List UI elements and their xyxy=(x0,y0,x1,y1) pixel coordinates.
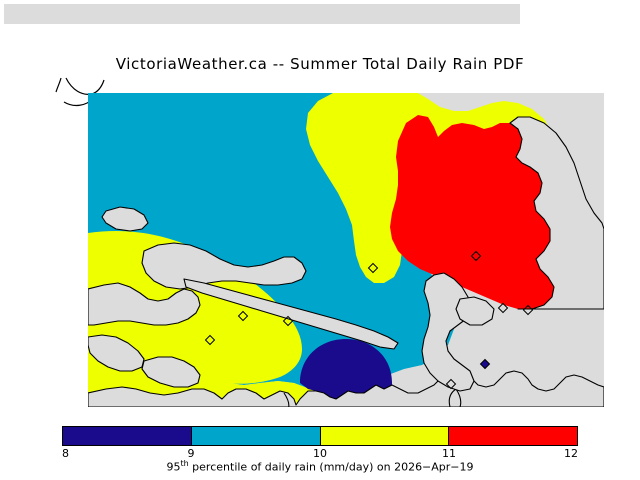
colorbar xyxy=(62,426,578,446)
caption-superscript: th xyxy=(180,459,188,468)
caption-rest: percentile of daily rain (mm/day) on 202… xyxy=(189,461,474,474)
colorbar-segment-11-12[interactable] xyxy=(449,427,577,445)
caption-prefix: 95 xyxy=(166,461,180,474)
colorbar-shadow xyxy=(4,4,520,24)
colorbar-segment-9-10[interactable] xyxy=(192,427,321,445)
map-canvas xyxy=(88,93,604,407)
colorbar-caption: 95th percentile of daily rain (mm/day) o… xyxy=(0,459,640,474)
colorbar-segment-8-9[interactable] xyxy=(63,427,192,445)
weather-map-page: VictoriaWeather.ca -- Summer Total Daily… xyxy=(0,0,640,480)
colorbar-segment-10-11[interactable] xyxy=(321,427,450,445)
contour-map xyxy=(88,93,604,407)
colorbar-segments[interactable] xyxy=(62,426,578,446)
